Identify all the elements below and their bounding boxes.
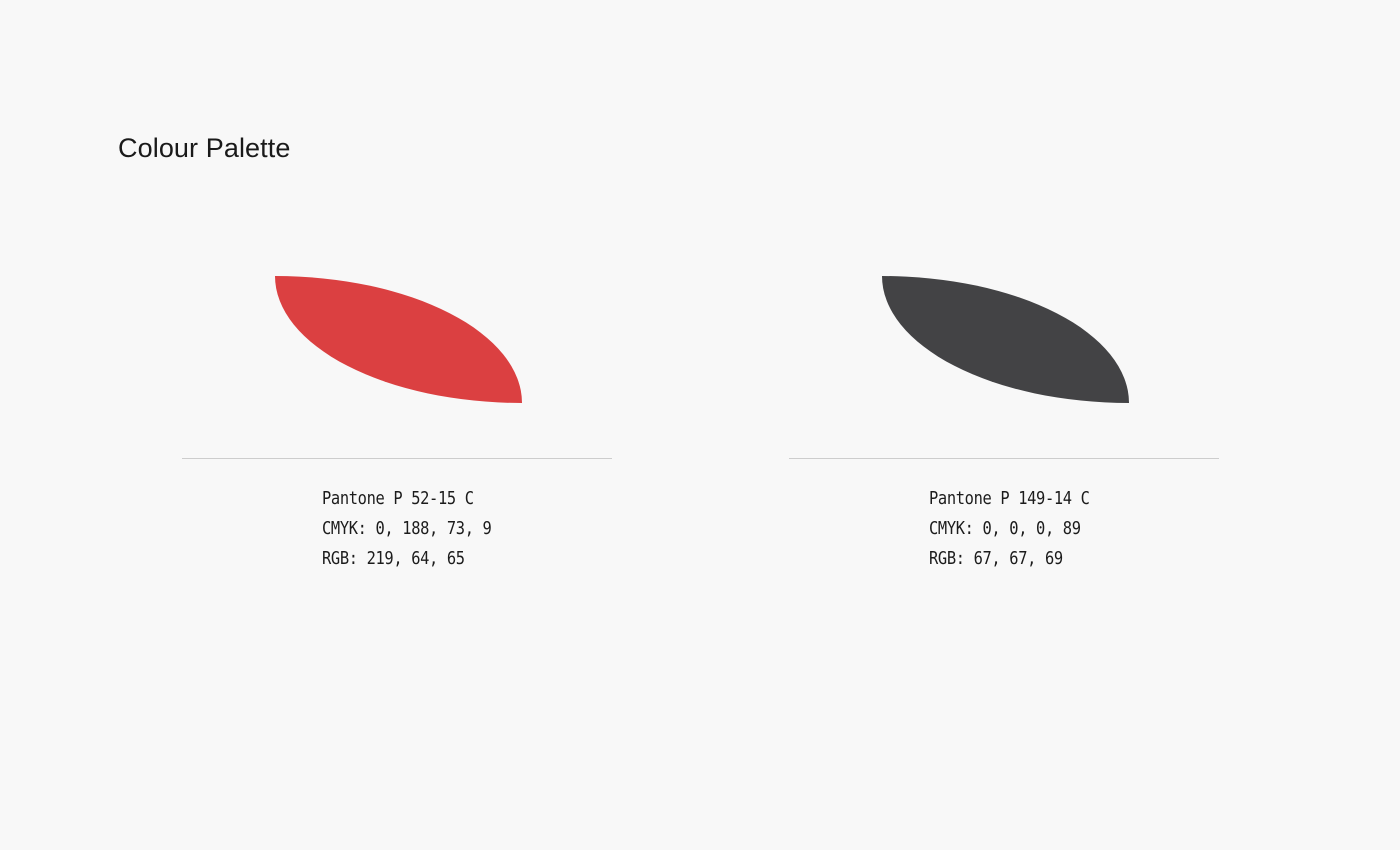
swatch-pantone-name: Pantone P 52-15 C xyxy=(322,484,586,514)
colour-swatch-leaf-shape xyxy=(275,276,522,403)
colour-palette-page: Colour Palette Pantone P 52-15 C CMYK: 0… xyxy=(0,0,1400,850)
swatch-pantone-name: Pantone P 149-14 C xyxy=(929,484,1193,514)
swatch-shape-container xyxy=(182,276,612,403)
swatch-cmyk-value: CMYK: 0, 188, 73, 9 xyxy=(322,514,586,544)
swatch-divider xyxy=(182,458,612,459)
swatch-shape-container xyxy=(789,276,1219,403)
swatch-info: Pantone P 149-14 C CMYK: 0, 0, 0, 89 RGB… xyxy=(929,484,1229,574)
swatch-card: Pantone P 149-14 C CMYK: 0, 0, 0, 89 RGB… xyxy=(789,276,1219,403)
colour-swatch-leaf-shape xyxy=(882,276,1129,403)
swatch-info: Pantone P 52-15 C CMYK: 0, 188, 73, 9 RG… xyxy=(322,484,622,574)
swatch-rgb-value: RGB: 67, 67, 69 xyxy=(929,544,1193,574)
swatch-divider xyxy=(789,458,1219,459)
swatch-card: Pantone P 52-15 C CMYK: 0, 188, 73, 9 RG… xyxy=(182,276,612,403)
swatch-rgb-value: RGB: 219, 64, 65 xyxy=(322,544,586,574)
swatch-grid: Pantone P 52-15 C CMYK: 0, 188, 73, 9 RG… xyxy=(0,0,1400,850)
swatch-cmyk-value: CMYK: 0, 0, 0, 89 xyxy=(929,514,1193,544)
